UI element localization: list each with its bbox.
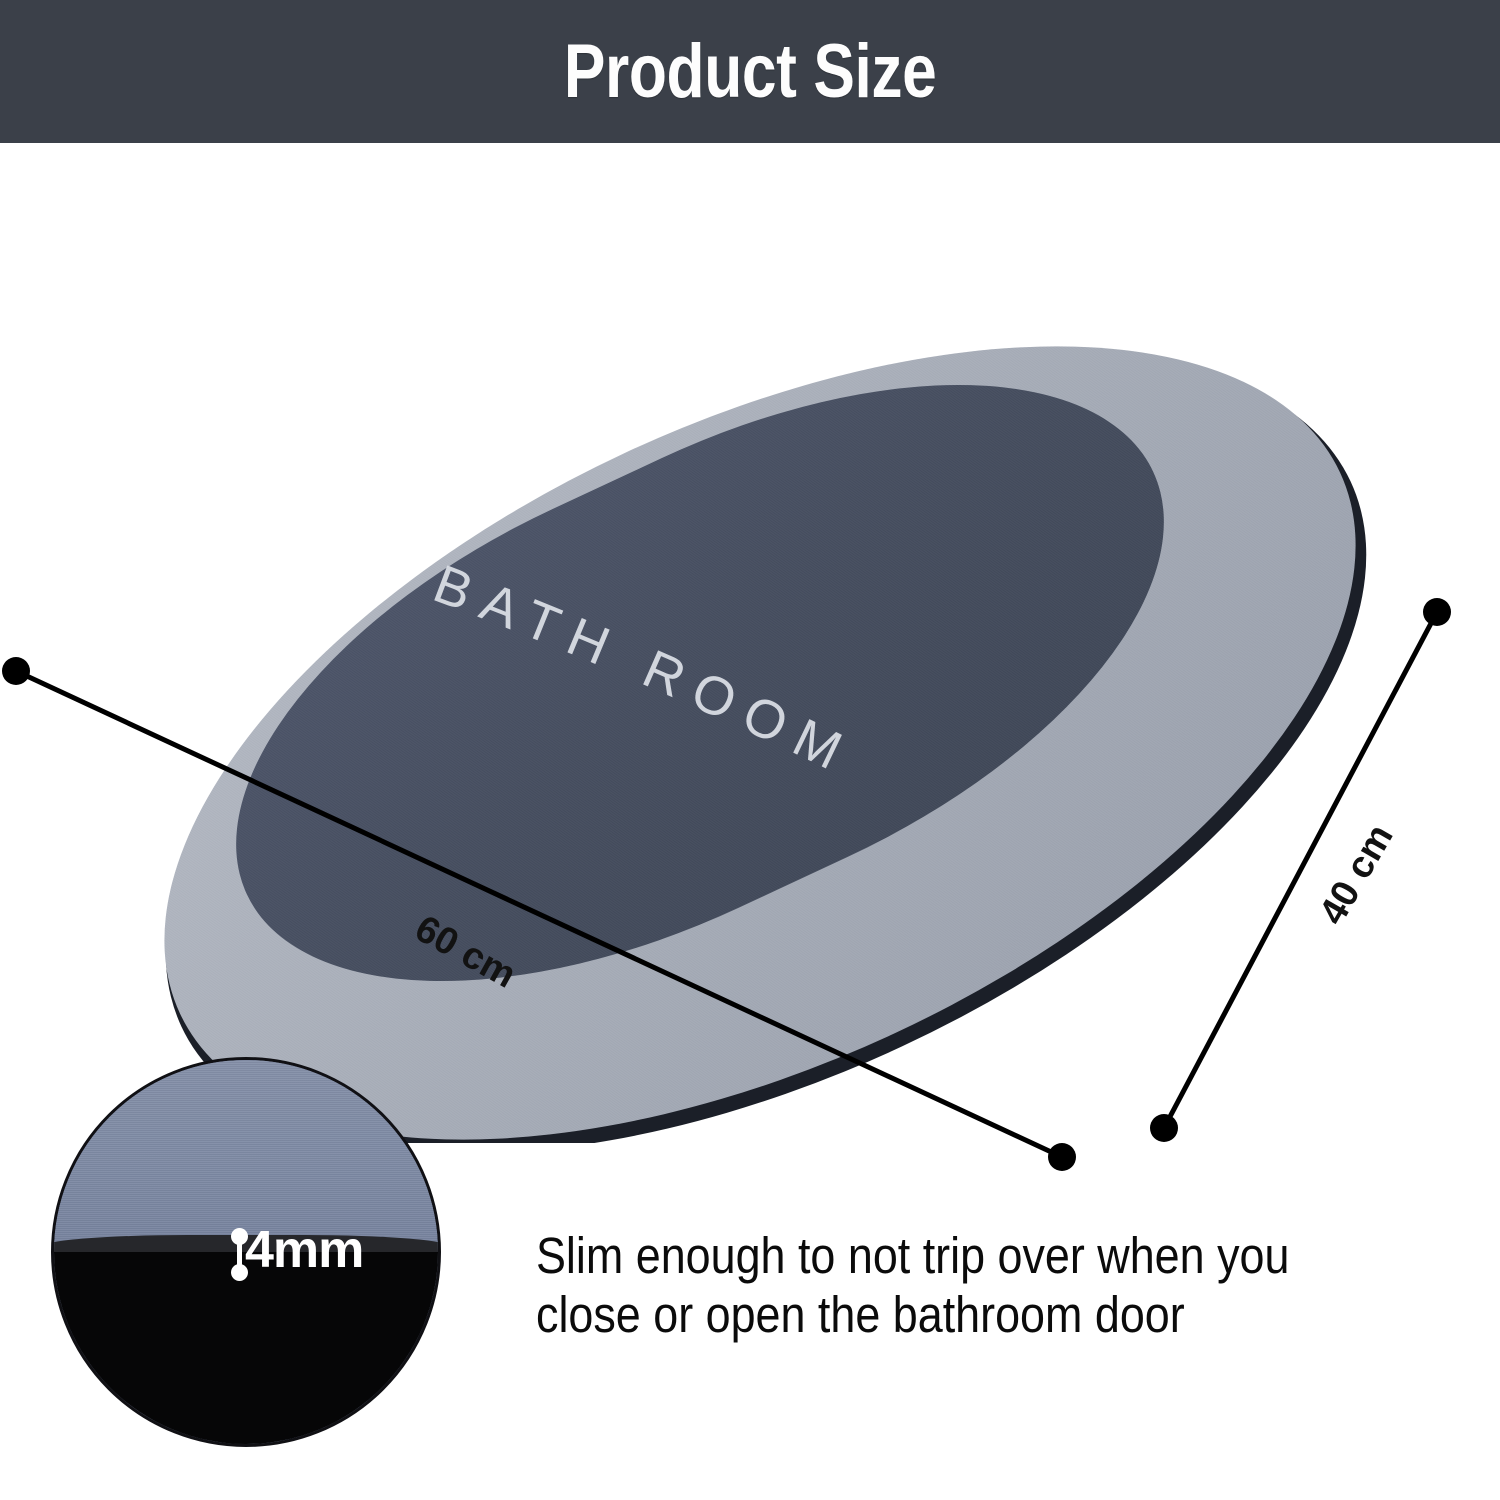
thickness-value-label: 4mm: [245, 1220, 363, 1280]
bath-mat-illustration: BATH ROOM: [0, 143, 1500, 1143]
caption-line-2: close or open the bathroom door: [536, 1285, 1359, 1344]
dimension-endpoint-dot: [1048, 1143, 1076, 1171]
header-bar: Product Size: [0, 0, 1500, 143]
caption-line-1: Slim enough to not trip over when you: [536, 1226, 1359, 1285]
feature-caption: Slim enough to not trip over when you cl…: [536, 1226, 1359, 1344]
product-image: BATH ROOM: [0, 143, 1500, 1143]
product-size-infographic: Product Size: [0, 0, 1500, 1500]
page-title: Product Size: [564, 28, 937, 115]
mat-surface-layer: [54, 1060, 438, 1242]
